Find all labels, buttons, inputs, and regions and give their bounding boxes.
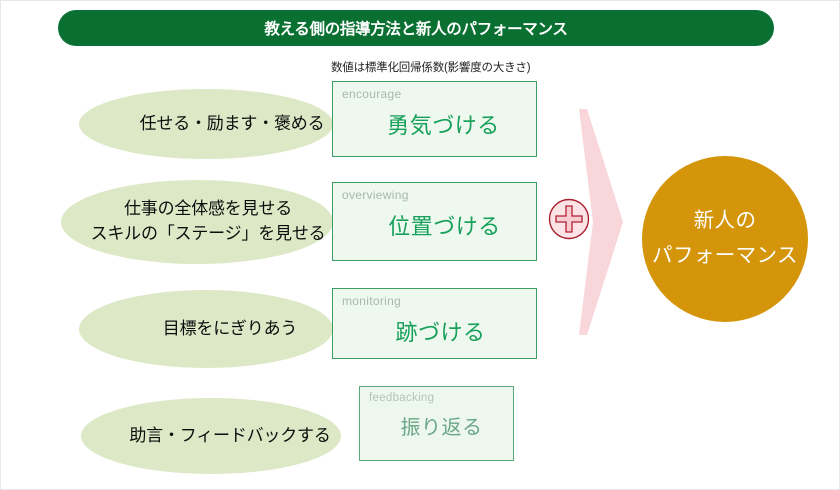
page-title: 教える側の指導方法と新人のパフォーマンス xyxy=(264,17,567,39)
factor-box-feedbacking-jp: 振り返る xyxy=(360,411,513,440)
behavior-ellipse-4-line-1: 助言・フィードバックする xyxy=(91,424,330,449)
plus-circle-icon xyxy=(548,198,590,240)
diagram-canvas: 教える側の指導方法と新人のパフォーマンス 数値は標準化回帰係数(影響度の大きさ)… xyxy=(0,0,840,490)
behavior-ellipse-2-line-1: 仕事の全体感を見せる xyxy=(102,197,292,222)
diagram-title-banner: 教える側の指導方法と新人のパフォーマンス xyxy=(58,10,774,46)
factor-box-feedbacking: feedbacking 振り返る xyxy=(359,386,514,461)
behavior-ellipse-2: 仕事の全体感を見せる スキルの「ステージ」を見せる xyxy=(61,180,333,264)
factor-box-encourage-en: encourage xyxy=(342,87,401,101)
factor-box-monitoring: monitoring 跡づける xyxy=(332,288,537,359)
factor-box-monitoring-en: monitoring xyxy=(342,294,401,308)
factor-box-overviewing-en: overviewing xyxy=(342,188,409,202)
behavior-ellipse-2-line-2: スキルの「ステージ」を見せる xyxy=(69,222,326,247)
factor-box-overviewing: overviewing 位置づける xyxy=(332,182,537,261)
caption-note: 数値は標準化回帰係数(影響度の大きさ) xyxy=(331,59,530,75)
factor-box-encourage: encourage 勇気づける xyxy=(332,81,537,157)
behavior-ellipse-1-line-1: 任せる・励ます・褒める xyxy=(88,112,325,137)
factor-box-overviewing-jp: 位置づける xyxy=(333,209,536,241)
behavior-ellipse-3: 目標をにぎりあう xyxy=(79,290,333,368)
behavior-ellipse-3-line-1: 目標をにぎりあう xyxy=(115,317,297,342)
result-circle-performance: 新人の パフォーマンス xyxy=(642,156,808,322)
behavior-ellipse-4: 助言・フィードバックする xyxy=(81,398,341,474)
result-circle-line-2: パフォーマンス xyxy=(652,239,798,274)
factor-box-encourage-jp: 勇気づける xyxy=(333,108,536,140)
factor-box-monitoring-jp: 跡づける xyxy=(333,315,536,347)
behavior-ellipse-1: 任せる・励ます・褒める xyxy=(79,89,333,159)
factor-box-feedbacking-en: feedbacking xyxy=(369,392,434,404)
result-circle-line-1: 新人の xyxy=(694,204,757,239)
